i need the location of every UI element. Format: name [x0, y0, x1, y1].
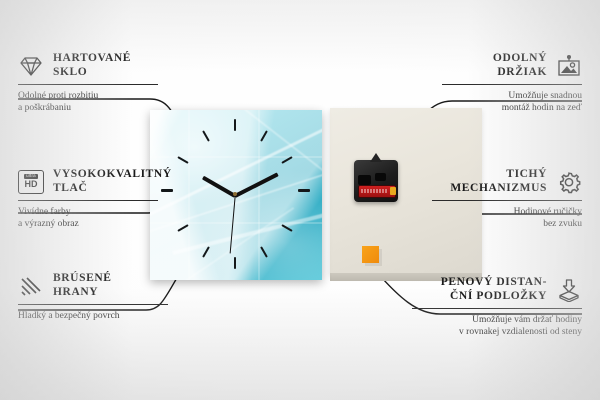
feature-subtitle: Hodinové ručičkybez zvuku — [432, 206, 582, 230]
divider — [432, 200, 582, 201]
feature-title: VYSOKOKVALITNÝTLAČ — [53, 168, 172, 195]
feature-title: BRÚSENÉHRANY — [53, 272, 112, 299]
hands-center-pin — [233, 192, 237, 196]
divider — [442, 84, 582, 85]
diamond-icon — [18, 54, 44, 78]
feature-foam-spacers: PENOVÝ DISTAN-ČNÍ PODLOŽKY Umožňuje vám … — [412, 276, 582, 338]
infographic-canvas: HARTOVANÉSKLO Odolné proti rozbitiua poš… — [0, 0, 600, 400]
foam-spacer-pad — [362, 246, 379, 263]
feature-subtitle: Hladký a bezpečný povrch — [18, 310, 168, 322]
feature-title: PENOVÝ DISTAN-ČNÍ PODLOŽKY — [441, 276, 547, 303]
ultra-hd-badge-icon: ultra HD — [18, 170, 44, 194]
picture-hanger-icon — [556, 54, 582, 78]
feature-high-quality-print: ultra HD VYSOKOKVALITNÝTLAČ Vivídne farb… — [18, 168, 158, 230]
feature-subtitle: Umožňuje vám držať hodinyv rovnakej vzdi… — [412, 314, 582, 338]
feature-title: TICHÝMECHANIZMUS — [450, 168, 547, 195]
feature-silent-mechanism: TICHÝMECHANIZMUS Hodinové ručičkybez zvu… — [432, 168, 582, 230]
divider — [18, 84, 158, 85]
minute-hand — [234, 172, 279, 197]
divider — [18, 304, 168, 305]
foam-spacer-icon — [556, 278, 582, 302]
beveled-edges-icon — [18, 274, 44, 298]
feature-durable-holder: ODOLNÝDRŽIAK Umožňuje snadnoumontáž hodi… — [442, 52, 582, 114]
divider — [412, 308, 582, 309]
feature-subtitle: Vivídne farbya výrazný obraz — [18, 206, 158, 230]
feature-subtitle: Odolné proti rozbitiua poškrábaniu — [18, 90, 158, 114]
feature-beveled-edges: BRÚSENÉHRANY Hladký a bezpečný povrch — [18, 272, 168, 322]
clock-face — [150, 110, 322, 280]
divider — [18, 200, 158, 201]
feature-title: ODOLNÝDRŽIAK — [493, 52, 547, 79]
feature-hardened-glass: HARTOVANÉSKLO Odolné proti rozbitiua poš… — [18, 52, 158, 114]
aa-battery — [358, 185, 396, 198]
clock-movement — [354, 160, 398, 202]
feature-subtitle: Umožňuje snadnoumontáž hodin na zeď — [442, 90, 582, 114]
feature-title: HARTOVANÉSKLO — [53, 52, 131, 79]
product-photo — [150, 110, 480, 282]
gear-icon — [556, 170, 582, 194]
